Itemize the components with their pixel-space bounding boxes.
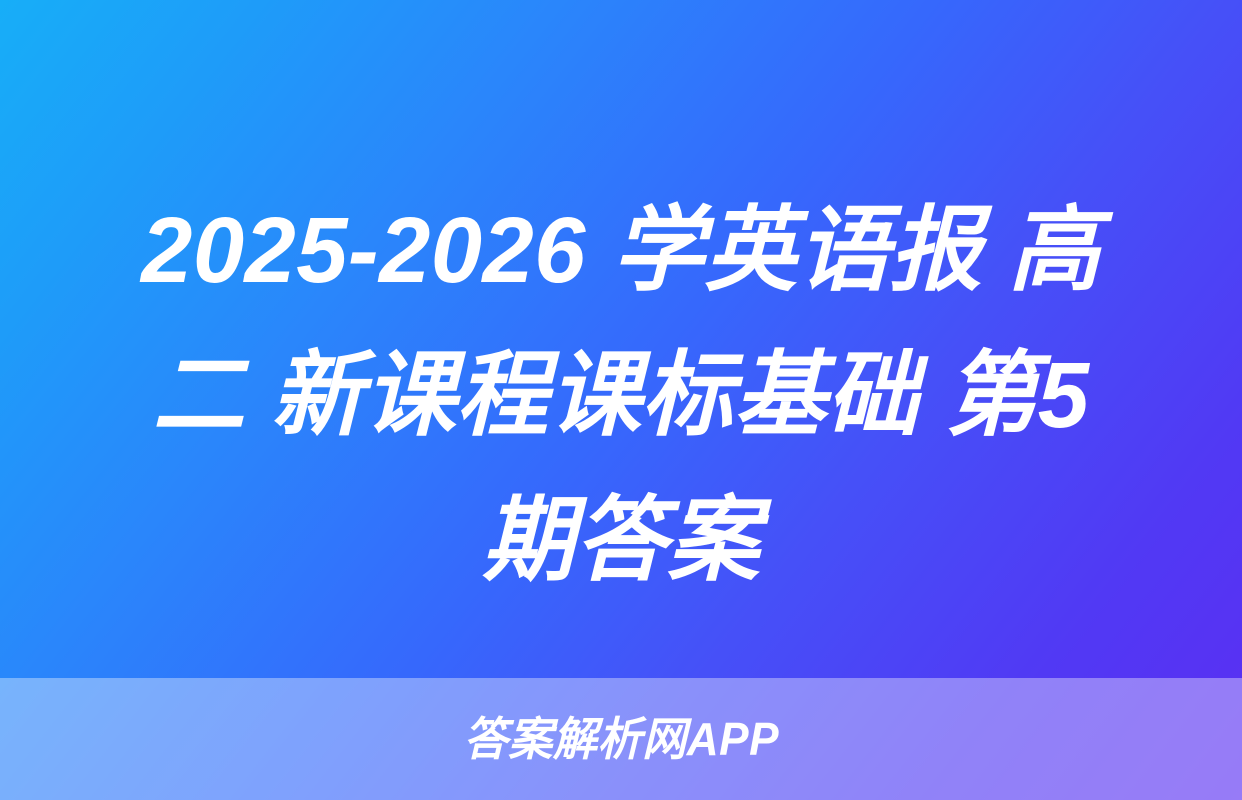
footer-band: 答案解析网APP [0,678,1242,800]
app-watermark-label: 答案解析网APP [463,716,778,762]
page-title: 2025-2026 学英语报 高 二 新课程课标基础 第5 期答案 [0,178,1242,628]
page-title-line-3: 期答案 [48,468,1194,613]
page-title-line-1: 2025-2026 学英语报 高 [48,178,1194,323]
poster-canvas: 2025-2026 学英语报 高 二 新课程课标基础 第5 期答案 答案解析网A… [0,0,1242,800]
page-title-line-2: 二 新课程课标基础 第5 [48,323,1194,468]
